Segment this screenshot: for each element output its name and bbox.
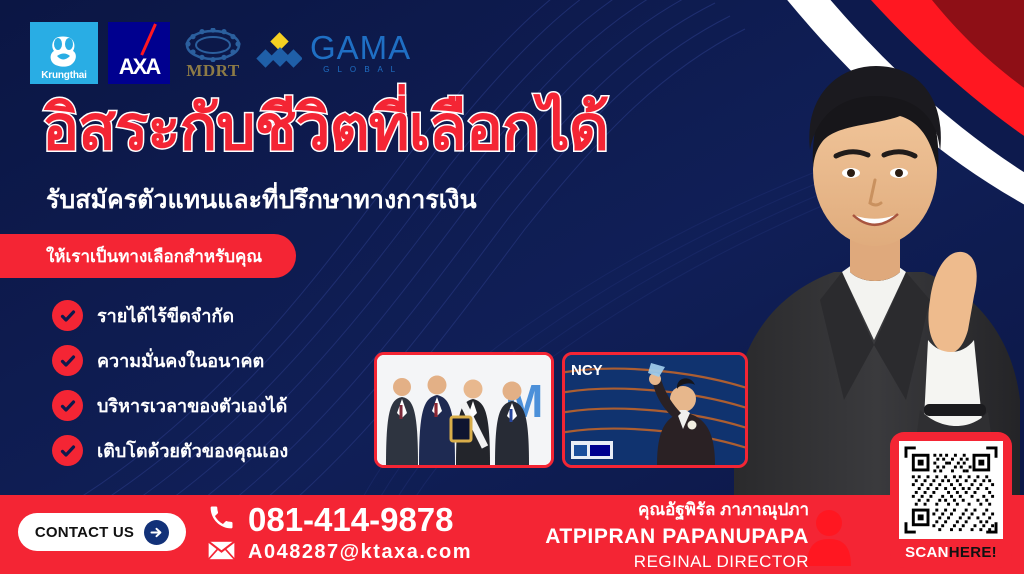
- contact-details: 081-414-9878 A048287@ktaxa.com: [207, 501, 472, 567]
- agent-name-thai: คุณอัฐพิรัล ภาภาณุปภา: [545, 498, 809, 523]
- axa-logo: AXA: [108, 22, 170, 84]
- svg-text:NCY: NCY: [571, 362, 603, 379]
- mdrt-logo-label: MDRT: [186, 62, 239, 79]
- agent-identity: คุณอัฐพิรัล ภาภาณุปภา ATPIPRAN PAPANUPAP…: [545, 498, 809, 574]
- check-circle-icon: [52, 390, 83, 421]
- page-title: อิสระกับชีวิตที่เลือกได้: [42, 96, 608, 161]
- qr-caption-secondary: HERE!: [949, 544, 997, 561]
- krungthai-bird-icon: [44, 33, 84, 71]
- benefits-list: รายได้ไร้ขีดจำกัด ความมั่นคงในอนาคต บริห…: [52, 300, 288, 466]
- krungthai-logo: Krungthai: [30, 22, 98, 84]
- krungthai-logo-label: Krungthai: [41, 71, 86, 81]
- list-item: เติบโตด้วยตัวของคุณเอง: [52, 435, 288, 466]
- benefit-label: เติบโตด้วยตัวของคุณเอง: [97, 436, 288, 465]
- tagline-banner: ให้เราเป็นทางเลือกสำหรับคุณ: [0, 234, 296, 278]
- list-item: บริหารเวลาของตัวเองได้: [52, 390, 288, 421]
- gama-diamond-icon: [256, 31, 302, 75]
- benefit-label: บริหารเวลาของตัวเองได้: [97, 391, 287, 420]
- email-address: A048287@ktaxa.com: [248, 541, 472, 564]
- qr-caption: SCANHERE!: [905, 544, 997, 561]
- tagline-label: ให้เราเป็นทางเลือกสำหรับคุณ: [46, 243, 262, 270]
- phone-row[interactable]: 081-414-9878: [207, 501, 472, 539]
- check-circle-icon: [52, 300, 83, 331]
- qr-caption-primary: SCAN: [905, 544, 949, 561]
- qr-code-icon: [899, 441, 1003, 539]
- partner-logo-row: Krungthai AXA MDRT: [30, 22, 411, 84]
- list-item: ความมั่นคงในอนาคต: [52, 345, 288, 376]
- axa-logo-label: AXA: [119, 54, 159, 80]
- contact-us-button[interactable]: CONTACT US: [18, 513, 186, 551]
- phone-icon: [207, 503, 236, 537]
- contact-bar: CONTACT US 081-414-9878: [0, 495, 1024, 574]
- phone-number: 081-414-9878: [248, 501, 454, 539]
- qr-code-card[interactable]: SCANHERE!: [890, 432, 1012, 568]
- agent-name-english: ATPIPRAN PAPANUPAPA: [545, 523, 809, 551]
- gama-logo: GAMA G L O B A L: [256, 22, 411, 84]
- award-ceremony-photo: M: [374, 352, 554, 468]
- mdrt-ring-icon: [184, 28, 242, 62]
- person-icon: [806, 508, 852, 566]
- stage-celebration-photo: NCY: [562, 352, 748, 468]
- contact-us-label: CONTACT US: [35, 524, 134, 541]
- list-item: รายได้ไร้ขีดจำกัด: [52, 300, 288, 331]
- gama-logo-sublabel: G L O B A L: [310, 65, 411, 74]
- gama-logo-label: GAMA: [310, 32, 411, 63]
- benefit-label: รายได้ไร้ขีดจำกัด: [97, 301, 234, 330]
- axa-slash-icon: [140, 23, 157, 55]
- page-subtitle: รับสมัครตัวแทนและที่ปรึกษาทางการเงิน: [46, 180, 477, 220]
- arrow-right-icon: [144, 520, 169, 545]
- check-circle-icon: [52, 435, 83, 466]
- check-circle-icon: [52, 345, 83, 376]
- recruitment-banner: Krungthai AXA MDRT: [0, 0, 1024, 574]
- mdrt-logo: MDRT: [180, 22, 246, 84]
- benefit-label: ความมั่นคงในอนาคต: [97, 346, 264, 375]
- email-row[interactable]: A048287@ktaxa.com: [207, 539, 472, 567]
- agent-role: REGINAL DIRECTOR: [545, 551, 809, 574]
- envelope-icon: [207, 539, 236, 567]
